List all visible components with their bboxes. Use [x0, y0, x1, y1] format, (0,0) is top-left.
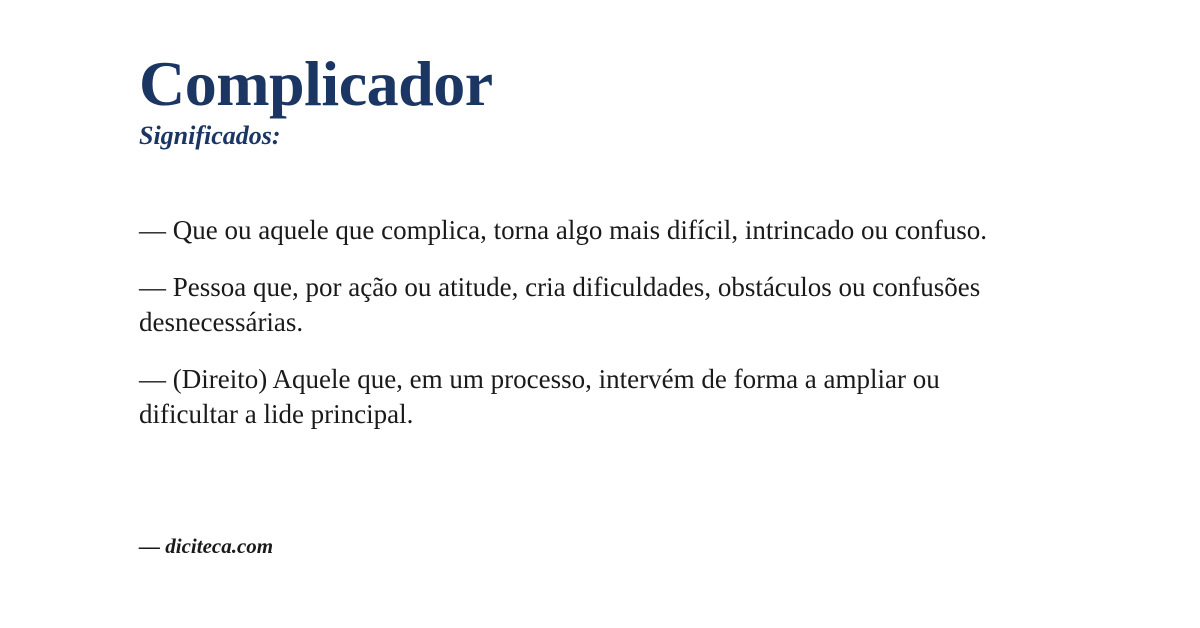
dictionary-entry-card: Complicador Significados: — Que ou aquel…	[0, 0, 1200, 628]
definition-list: — Que ou aquele que complica, torna algo…	[139, 213, 1039, 432]
definition-item: — Pessoa que, por ação ou atitude, cria …	[139, 270, 1039, 340]
source-attribution: — diciteca.com	[139, 534, 273, 559]
definition-item: — Que ou aquele que complica, torna algo…	[139, 213, 1039, 248]
page-title: Complicador	[139, 52, 1061, 116]
meanings-label: Significados:	[139, 122, 1061, 151]
entry-header: Complicador Significados:	[139, 52, 1061, 151]
definition-item: — (Direito) Aquele que, em um processo, …	[139, 362, 1039, 432]
